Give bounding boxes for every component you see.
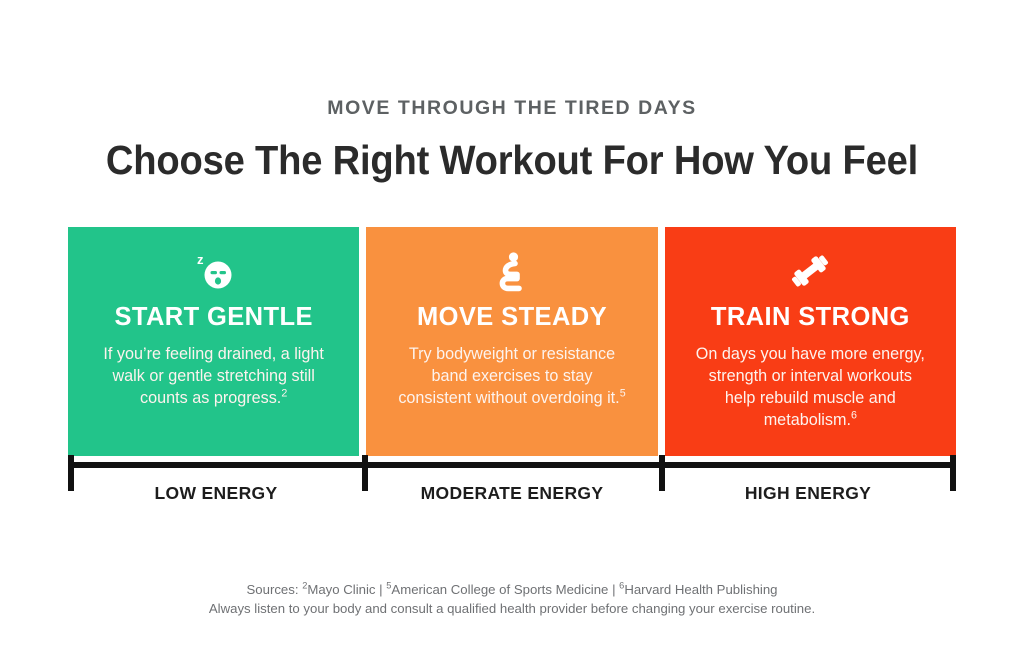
svg-text:z: z	[197, 252, 204, 267]
source-2-name: American College of Sports Medicine	[391, 582, 608, 597]
energy-axis: LOW ENERGY MODERATE ENERGY HIGH ENERGY	[62, 455, 962, 517]
dumbbell-icon	[786, 247, 834, 295]
axis-label-row: LOW ENERGY MODERATE ENERGY HIGH ENERGY	[68, 483, 956, 504]
panel-footnote-marker: 6	[851, 409, 857, 421]
footer: Sources: 2Mayo Clinic | 5American Colleg…	[0, 580, 1024, 618]
panel-title: TRAIN STRONG	[711, 303, 910, 331]
source-separator-2: |	[612, 582, 615, 597]
infographic-root: MOVE THROUGH THE TIRED DAYS Choose The R…	[0, 0, 1024, 650]
axis-label-moderate-energy: MODERATE ENERGY	[364, 483, 660, 504]
sources-prefix: Sources:	[246, 582, 298, 597]
footer-disclaimer: Always listen to your body and consult a…	[0, 599, 1024, 618]
running-person-icon	[495, 247, 529, 295]
source-1-name: Mayo Clinic	[307, 582, 375, 597]
panel-title: MOVE STEADY	[417, 303, 607, 331]
panel-body: On days you have more energy, strength o…	[694, 344, 926, 431]
panel-title: START GENTLE	[114, 303, 312, 331]
axis-line	[68, 462, 956, 468]
energy-panels: z START GENTLE If you’re feeling drained…	[68, 227, 956, 456]
panel-low-energy[interactable]: z START GENTLE If you’re feeling drained…	[68, 227, 359, 456]
axis-label-high-energy: HIGH ENERGY	[660, 483, 956, 504]
source-separator-1: |	[379, 582, 382, 597]
eyebrow-text: MOVE THROUGH THE TIRED DAYS	[0, 98, 1024, 119]
panel-body: Try bodyweight or resistance band exerci…	[396, 344, 628, 410]
source-3-name: Harvard Health Publishing	[624, 582, 777, 597]
panel-high-energy[interactable]: TRAIN STRONG On days you have more energ…	[665, 227, 956, 456]
panel-body-text: Try bodyweight or resistance band exerci…	[398, 345, 619, 407]
panel-body: If you’re feeling drained, a light walk …	[98, 344, 330, 410]
axis-label-low-energy: LOW ENERGY	[68, 483, 364, 504]
header: MOVE THROUGH THE TIRED DAYS Choose The R…	[0, 98, 1024, 185]
panel-footnote-marker: 5	[620, 387, 626, 399]
panel-body-text: On days you have more energy, strength o…	[696, 345, 925, 429]
page-title: Choose The Right Workout For How You Fee…	[36, 137, 988, 184]
sleeping-face-icon: z	[191, 247, 237, 295]
panel-body-text: If you’re feeling drained, a light walk …	[103, 345, 323, 407]
panel-footnote-marker: 2	[281, 387, 287, 399]
footer-sources-line: Sources: 2Mayo Clinic | 5American Colleg…	[0, 580, 1024, 599]
panel-moderate-energy[interactable]: MOVE STEADY Try bodyweight or resistance…	[366, 227, 657, 456]
